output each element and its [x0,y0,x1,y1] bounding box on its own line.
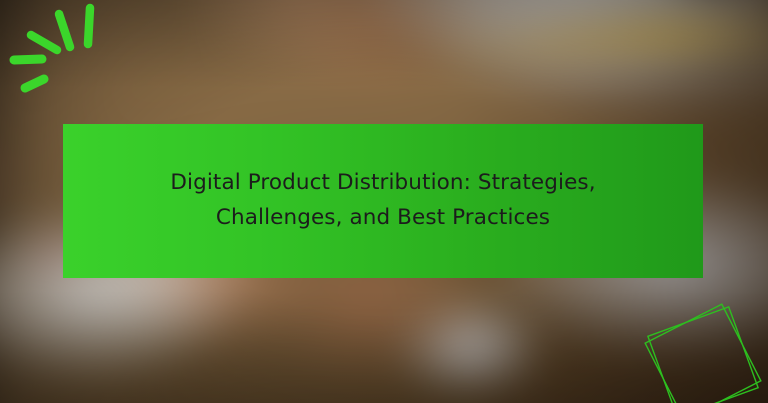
page-title: Digital Product Distribution: Strategies… [148,166,618,236]
title-banner: Digital Product Distribution: Strategies… [63,124,703,278]
featured-image-canvas: Digital Product Distribution: Strategies… [0,0,768,403]
